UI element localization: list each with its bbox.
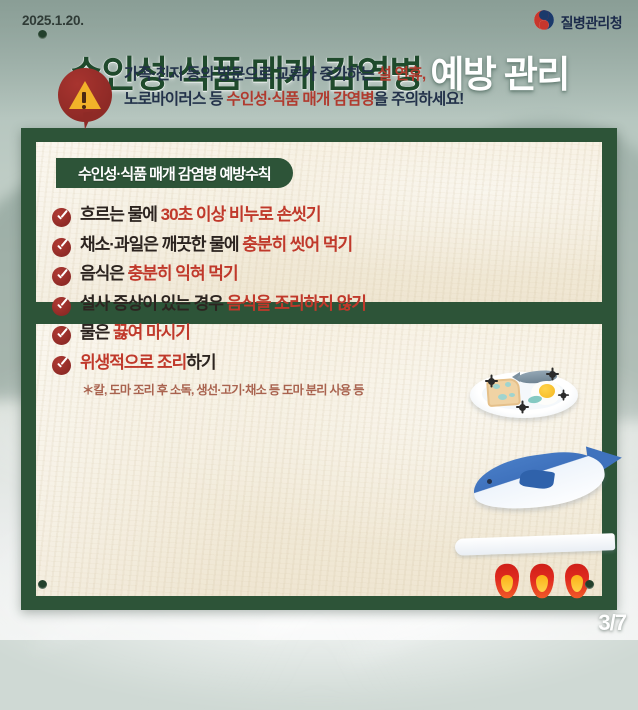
notice-line-2-plain: 노로바이러스 등	[124, 91, 226, 108]
list-item-lead: 음식은	[80, 264, 128, 283]
check-circle-icon	[52, 208, 71, 227]
agency-logo: 질병관리청	[533, 9, 622, 36]
notice-line-1-plain: 가족·친지 등의 방문으로 교류가 증가하는	[124, 66, 378, 83]
check-circle-icon	[52, 297, 71, 316]
notice-line-2: 노로바이러스 등 수인성·식품 매개 감염병을 주의하세요!	[124, 87, 618, 112]
list-item-highlight: 끓여 마시기	[113, 323, 190, 342]
list-item-highlight: 충분히 씻어 먹기	[242, 235, 352, 254]
list-item-text: 물은 끓여 마시기	[80, 323, 190, 344]
section-banner-label: 수인성·식품 매개 감염병 예방수칙	[78, 163, 271, 184]
check-circle-icon	[52, 356, 71, 375]
list-item: 위생적으로 조리하기	[52, 353, 578, 375]
list-item-highlight: 30초 이상 비누로 손씻기	[161, 205, 321, 224]
list-item-tail: 하기	[186, 353, 215, 372]
check-circle-icon	[52, 238, 71, 257]
list-item-text: 위생적으로 조리하기	[80, 353, 215, 374]
taegeuk-logo-icon	[533, 9, 555, 36]
list-item: 음식은 충분히 익혀 먹기	[52, 264, 578, 286]
agency-name: 질병관리청	[561, 13, 622, 33]
list-item: 흐르는 물에 30초 이상 비누로 손씻기	[52, 205, 578, 227]
list-item: 채소·과일은 깨끗한 물에 충분히 씻어 먹기	[52, 235, 578, 257]
corner-dot-bottom-left	[38, 580, 47, 589]
warning-exclamation-icon	[58, 68, 116, 132]
list-item-text: 흐르는 물에 30초 이상 비누로 손씻기	[80, 205, 321, 226]
list-item-text: 설사 증상이 있는 경우 음식을 조리하지 않기	[80, 294, 366, 315]
section-banner: 수인성·식품 매개 감염병 예방수칙	[56, 158, 293, 188]
list-item-lead: 채소·과일은 깨끗한 물에	[80, 235, 242, 254]
prevention-checklist: 흐르는 물에 30초 이상 비누로 손씻기 채소·과일은 깨끗한 물에 충분히 …	[52, 205, 578, 398]
corner-dot-top-left	[38, 30, 47, 39]
notice-line-1: 가족·친지 등의 방문으로 교류가 증가하는 설 연휴,	[124, 62, 618, 87]
list-item-highlight: 위생적으로 조리	[80, 353, 186, 372]
notice-text: 가족·친지 등의 방문으로 교류가 증가하는 설 연휴, 노로바이러스 등 수인…	[124, 62, 618, 113]
list-item-highlight: 음식을 조리하지 않기	[227, 294, 366, 313]
notice-line-2-tail: 을 주의하세요!	[374, 91, 464, 108]
list-item: 설사 증상이 있는 경우 음식을 조리하지 않기	[52, 294, 578, 316]
list-item-lead: 설사 증상이 있는 경우	[80, 294, 227, 313]
notice-line-2-bold: 수인성·식품 매개 감염병	[226, 91, 374, 108]
publish-date: 2025.1.20.	[22, 13, 84, 28]
notice-line-1-bold: 설 연휴,	[378, 66, 426, 83]
list-item-text: 채소·과일은 깨끗한 물에 충분히 씻어 먹기	[80, 235, 352, 256]
notice-block: 가족·친지 등의 방문으로 교류가 증가하는 설 연휴, 노로바이러스 등 수인…	[40, 62, 618, 113]
corner-dot-bottom-right	[585, 580, 594, 589]
list-item-text: 음식은 충분히 익혀 먹기	[80, 264, 238, 285]
list-item-lead: 물은	[80, 323, 113, 342]
warning-exclamation-bar	[82, 92, 86, 103]
check-circle-icon	[52, 267, 71, 286]
list-item-highlight: 충분히 익혀 먹기	[128, 264, 238, 283]
check-circle-icon	[52, 326, 71, 345]
warning-bubble-tail	[83, 112, 95, 130]
list-item-lead: 흐르는 물에	[80, 205, 161, 224]
checklist-footnote: ＊칼, 도마 조리 후 소독, 생선·고기·채소 등 도마 분리 사용 등	[82, 380, 578, 398]
page-indicator: 3/7	[598, 610, 626, 636]
warning-exclamation-dot	[82, 105, 86, 109]
list-item: 물은 끓여 마시기	[52, 323, 578, 345]
